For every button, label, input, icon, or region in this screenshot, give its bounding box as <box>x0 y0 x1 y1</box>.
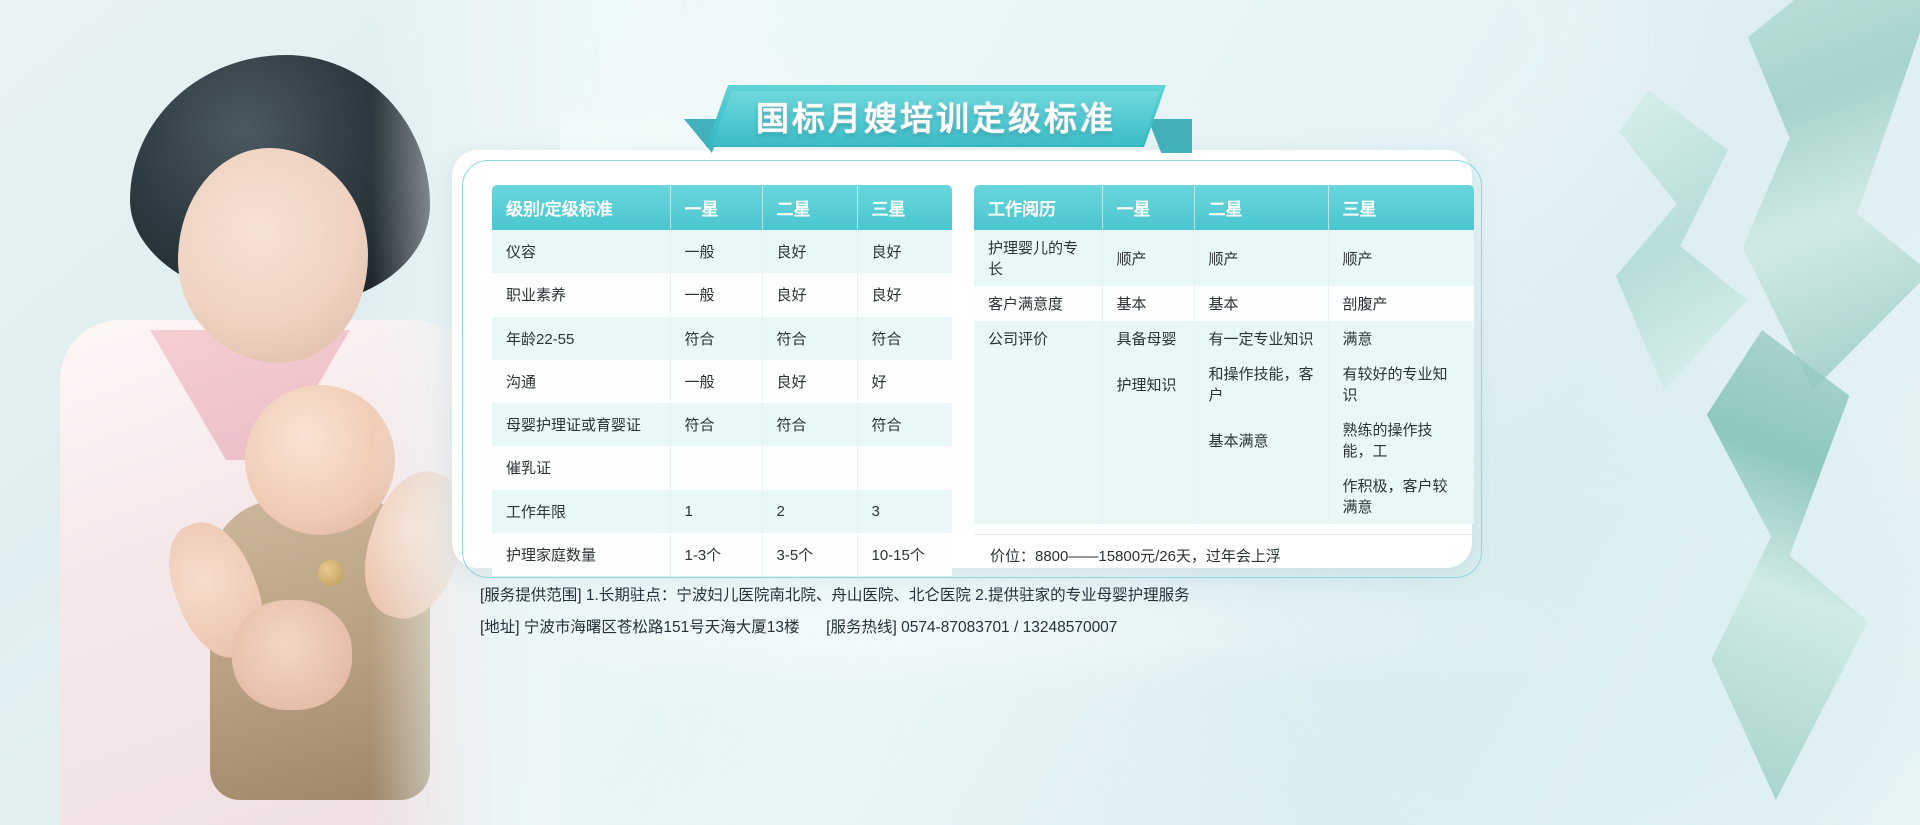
table-row: 客户满意度 基本 基本 剖腹产 <box>974 286 1474 321</box>
table-row: 工作年限 1 2 3 <box>492 490 952 533</box>
cell-star3: 良好 <box>857 230 952 273</box>
cell-star2: 顺产 <box>1194 230 1328 286</box>
cell-star3: 符合 <box>857 403 952 446</box>
cell-star1 <box>1102 468 1194 524</box>
table-row: 护理婴儿的专长 顺产 顺产 顺产 <box>974 230 1474 286</box>
table-row: 基本满意 熟练的操作技能，工 <box>974 412 1474 468</box>
cell-star2: 良好 <box>762 273 857 316</box>
banner-page: 国标月嫂培训定级标准 级别/定级标准 一星 二星 三星 仪容 一般 良好 良好 <box>0 0 1920 825</box>
cell-star2 <box>762 446 857 489</box>
photo-hand <box>232 600 352 710</box>
right-col-header-star2: 二星 <box>1194 185 1328 230</box>
cell-star1: 符合 <box>670 317 762 360</box>
cell-star1: 一般 <box>670 230 762 273</box>
left-col-header-criteria: 级别/定级标准 <box>492 185 670 230</box>
cell-star1: 一般 <box>670 360 762 403</box>
cell-criteria: 工作年限 <box>492 490 670 533</box>
cell-star3: 良好 <box>857 273 952 316</box>
price-note: 价位：8800——15800元/26天，过年会上浮 <box>974 534 1474 576</box>
cell-star1 <box>670 446 762 489</box>
cell-criteria: 护理家庭数量 <box>492 533 670 576</box>
cell-star1: 符合 <box>670 403 762 446</box>
cell-experience: 护理婴儿的专长 <box>974 230 1102 286</box>
cell-criteria: 沟通 <box>492 360 670 403</box>
table-header-row: 工作阅历 一星 二星 三星 <box>974 185 1474 230</box>
cell-star2: 符合 <box>762 317 857 360</box>
table-row: 沟通 一般 良好 好 <box>492 360 952 403</box>
experience-table-wrapper: 工作阅历 一星 二星 三星 护理婴儿的专长 顺产 顺产 顺产 客户满意度 <box>974 185 1474 576</box>
cell-star3: 作积极，客户较满意 <box>1328 468 1474 524</box>
left-col-header-star2: 二星 <box>762 185 857 230</box>
cell-criteria: 仪容 <box>492 230 670 273</box>
footer-info: [服务提供范围] 1.长期驻点：宁波妇儿医院南北院、舟山医院、北仑医院 2.提供… <box>480 580 1460 644</box>
cell-star1 <box>1102 412 1194 468</box>
address-hotline-line: [地址] 宁波市海曙区苍松路151号天海大厦13楼 [服务热线] 0574-87… <box>480 612 1460 644</box>
cell-criteria: 职业素养 <box>492 273 670 316</box>
left-table-body: 仪容 一般 良好 良好 职业素养 一般 良好 良好 年龄22-55 符合 符合 … <box>492 230 952 576</box>
cell-star1: 具备母婴 <box>1102 321 1194 356</box>
cell-star1: 1 <box>670 490 762 533</box>
table-row: 职业素养 一般 良好 良好 <box>492 273 952 316</box>
table-header-row: 级别/定级标准 一星 二星 三星 <box>492 185 952 230</box>
cell-experience <box>974 412 1102 468</box>
cell-star3: 有较好的专业知识 <box>1328 356 1474 412</box>
photo-caregiver-face <box>178 148 368 363</box>
cell-star3: 满意 <box>1328 321 1474 356</box>
cell-star3 <box>857 446 952 489</box>
table-row: 护理知识 和操作技能，客户 有较好的专业知识 <box>974 356 1474 412</box>
cell-star3: 3 <box>857 490 952 533</box>
table-row: 仪容 一般 良好 良好 <box>492 230 952 273</box>
cell-experience: 公司评价 <box>974 321 1102 356</box>
work-experience-table: 工作阅历 一星 二星 三星 护理婴儿的专长 顺产 顺产 顺产 客户满意度 <box>974 185 1474 524</box>
table-row: 年龄22-55 符合 符合 符合 <box>492 317 952 360</box>
cell-star1: 一般 <box>670 273 762 316</box>
address-text: [地址] 宁波市海曙区苍松路151号天海大厦13楼 <box>480 619 800 636</box>
photo-button-detail <box>318 560 344 586</box>
right-table-body: 护理婴儿的专长 顺产 顺产 顺产 客户满意度 基本 基本 剖腹产 公司评价 具备… <box>974 230 1474 524</box>
cell-star3: 好 <box>857 360 952 403</box>
right-table-head: 工作阅历 一星 二星 三星 <box>974 185 1474 230</box>
hotline-text: [服务热线] 0574-87083701 / 13248570007 <box>826 619 1117 636</box>
table-row: 作积极，客户较满意 <box>974 468 1474 524</box>
title-ribbon: 国标月嫂培训定级标准 <box>706 85 1166 153</box>
right-col-header-experience: 工作阅历 <box>974 185 1102 230</box>
left-col-header-star3: 三星 <box>857 185 952 230</box>
right-col-header-star3: 三星 <box>1328 185 1474 230</box>
cell-experience: 客户满意度 <box>974 286 1102 321</box>
left-col-header-star1: 一星 <box>670 185 762 230</box>
table-row: 公司评价 具备母婴 有一定专业知识 满意 <box>974 321 1474 356</box>
cell-star1: 护理知识 <box>1102 356 1194 412</box>
cell-star3: 符合 <box>857 317 952 360</box>
cell-star2: 良好 <box>762 230 857 273</box>
table-row: 护理家庭数量 1-3个 3-5个 10-15个 <box>492 533 952 576</box>
cell-star2: 符合 <box>762 403 857 446</box>
page-title: 国标月嫂培训定级标准 <box>706 85 1166 147</box>
cell-star1: 基本 <box>1102 286 1194 321</box>
grading-standard-table: 级别/定级标准 一星 二星 三星 仪容 一般 良好 良好 职业素养 一般 良好 <box>492 185 952 576</box>
cell-star3: 10-15个 <box>857 533 952 576</box>
left-table-head: 级别/定级标准 一星 二星 三星 <box>492 185 952 230</box>
decorative-ribbon <box>1600 90 1760 390</box>
cell-star2: 基本满意 <box>1194 412 1328 468</box>
cell-star3: 顺产 <box>1328 230 1474 286</box>
cell-star1: 顺产 <box>1102 230 1194 286</box>
service-scope-line: [服务提供范围] 1.长期驻点：宁波妇儿医院南北院、舟山医院、北仑医院 2.提供… <box>480 580 1460 612</box>
cell-star2: 3-5个 <box>762 533 857 576</box>
cell-star3: 剖腹产 <box>1328 286 1474 321</box>
table-row: 催乳证 <box>492 446 952 489</box>
cell-experience <box>974 356 1102 412</box>
cell-star2: 和操作技能，客户 <box>1194 356 1328 412</box>
cell-star2: 2 <box>762 490 857 533</box>
cell-star2: 基本 <box>1194 286 1328 321</box>
cell-star3: 熟练的操作技能，工 <box>1328 412 1474 468</box>
tables-container: 级别/定级标准 一星 二星 三星 仪容 一般 良好 良好 职业素养 一般 良好 <box>492 185 1452 576</box>
table-row: 母婴护理证或育婴证 符合 符合 符合 <box>492 403 952 446</box>
cell-star2: 良好 <box>762 360 857 403</box>
cell-criteria: 催乳证 <box>492 446 670 489</box>
cell-experience <box>974 468 1102 524</box>
right-col-header-star1: 一星 <box>1102 185 1194 230</box>
cell-star1: 1-3个 <box>670 533 762 576</box>
cell-star2 <box>1194 468 1328 524</box>
cell-criteria: 母婴护理证或育婴证 <box>492 403 670 446</box>
cell-star2: 有一定专业知识 <box>1194 321 1328 356</box>
cell-criteria: 年龄22-55 <box>492 317 670 360</box>
